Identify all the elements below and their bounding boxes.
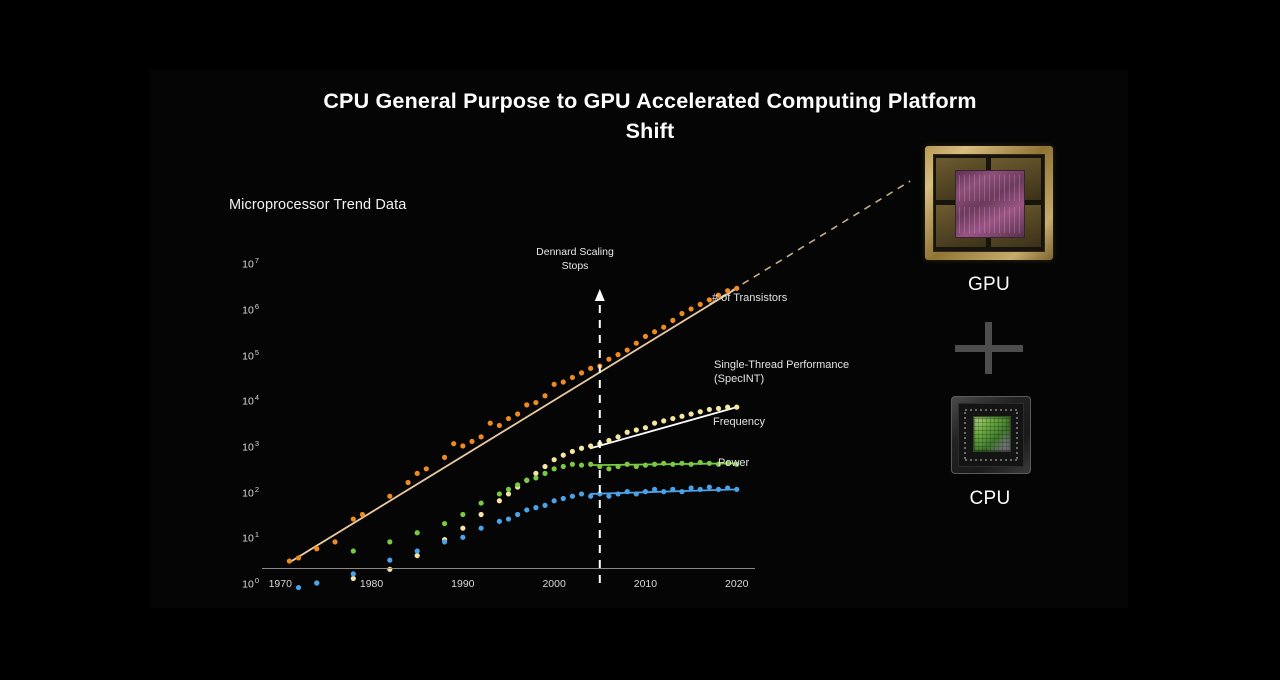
data-point: [314, 546, 319, 551]
data-point: [652, 462, 657, 467]
data-point: [460, 535, 465, 540]
data-point: [387, 558, 392, 563]
data-point: [579, 463, 584, 468]
data-point: [634, 427, 639, 432]
data-point: [533, 475, 538, 480]
data-point: [597, 464, 602, 469]
gpu-die-row: [959, 175, 1022, 201]
data-point: [552, 498, 557, 503]
data-point: [679, 489, 684, 494]
data-point: [670, 487, 675, 492]
data-point: [332, 539, 337, 544]
data-point: [652, 487, 657, 492]
data-point: [360, 512, 365, 517]
data-point: [552, 466, 557, 471]
cpu-chip-image: [951, 396, 1031, 474]
data-point: [716, 406, 721, 411]
series-label-single-thread: Single-Thread Performance (SpecINT): [714, 358, 849, 386]
y-axis-tick: 106: [242, 302, 259, 317]
gpu-chip-image: [925, 146, 1053, 260]
gpu-label: GPU: [925, 274, 1053, 296]
x-axis-tick: 2020: [725, 578, 748, 590]
y-axis-tick: 100: [242, 576, 259, 591]
gpu-die-row: [959, 207, 1022, 233]
data-point: [661, 418, 666, 423]
dennard-scaling-annotation: Dennard Scaling Stops: [520, 246, 630, 273]
data-point: [533, 505, 538, 510]
data-point: [515, 482, 520, 487]
data-point: [579, 491, 584, 496]
data-point: [625, 489, 630, 494]
data-point: [451, 441, 456, 446]
data-point: [460, 526, 465, 531]
data-point: [479, 500, 484, 505]
x-axis-tick: 1970: [269, 578, 292, 590]
data-point: [679, 414, 684, 419]
data-point: [479, 526, 484, 531]
cpu-pad-row: [965, 409, 1016, 411]
data-point: [698, 487, 703, 492]
cpu-label: CPU: [951, 488, 1029, 510]
data-point: [707, 484, 712, 489]
data-point: [707, 461, 712, 466]
y-axis-tick: 104: [242, 393, 259, 408]
data-point: [679, 311, 684, 316]
y-axis-tick: 105: [242, 347, 259, 362]
data-point: [515, 512, 520, 517]
data-point: [542, 393, 547, 398]
data-point: [579, 446, 584, 451]
data-point: [615, 352, 620, 357]
data-point: [506, 516, 511, 521]
data-point: [351, 571, 356, 576]
cpu-pad-column: [964, 411, 966, 458]
data-point: [588, 443, 593, 448]
data-point: [561, 496, 566, 501]
data-point: [460, 512, 465, 517]
data-point: [570, 449, 575, 454]
data-point: [688, 485, 693, 490]
data-point: [643, 463, 648, 468]
data-point: [415, 530, 420, 535]
data-point: [524, 478, 529, 483]
page-title: CPU General Purpose to GPU Accelerated C…: [300, 86, 1000, 146]
data-point: [698, 460, 703, 465]
data-point: [615, 491, 620, 496]
plot-area: [262, 245, 755, 583]
cpu-core-die: [973, 416, 1011, 451]
data-point: [625, 347, 630, 352]
data-point: [643, 425, 648, 430]
data-point: [479, 512, 484, 517]
data-point: [533, 471, 538, 476]
data-point: [643, 334, 648, 339]
data-point: [497, 423, 502, 428]
cpu-block: CPU: [951, 396, 1029, 510]
x-axis-tick: 1990: [451, 578, 474, 590]
data-point: [606, 494, 611, 499]
data-point: [351, 516, 356, 521]
chart-title: Microprocessor Trend Data: [229, 197, 406, 213]
cpu-pad-row: [965, 459, 1016, 461]
microprocessor-trend-chart: 100101102103104105106107 197019801990200…: [229, 230, 749, 600]
data-point: [634, 341, 639, 346]
data-point: [652, 421, 657, 426]
data-point: [415, 471, 420, 476]
data-point: [606, 466, 611, 471]
data-point: [606, 357, 611, 362]
x-axis-tick: 2010: [634, 578, 657, 590]
gpu-die-substrate: [933, 154, 1045, 252]
data-point: [688, 411, 693, 416]
data-point: [542, 471, 547, 476]
series-label-frequency: Frequency: [713, 415, 765, 429]
data-point: [661, 325, 666, 330]
data-point: [542, 464, 547, 469]
data-point: [698, 409, 703, 414]
data-point: [506, 416, 511, 421]
data-point: [469, 439, 474, 444]
x-axis-tick-labels: 197019801990200020102020: [262, 578, 755, 598]
data-point: [625, 430, 630, 435]
data-point: [716, 487, 721, 492]
x-axis-tick: 1980: [360, 578, 383, 590]
data-point: [670, 462, 675, 467]
data-point: [479, 434, 484, 439]
data-point: [688, 306, 693, 311]
data-point: [725, 405, 730, 410]
data-point: [634, 491, 639, 496]
data-point: [497, 498, 502, 503]
data-point: [405, 480, 410, 485]
data-point: [588, 494, 593, 499]
data-point: [497, 491, 502, 496]
data-point: [570, 462, 575, 467]
data-point: [552, 382, 557, 387]
data-point: [488, 421, 493, 426]
slide-root: CPU General Purpose to GPU Accelerated C…: [0, 0, 1280, 680]
data-point: [734, 487, 739, 492]
data-point: [424, 466, 429, 471]
plot-svg: [262, 245, 755, 583]
data-point: [506, 487, 511, 492]
series-label-single-thread-line2: (SpecINT): [714, 372, 849, 386]
y-axis-tick: 107: [242, 256, 259, 271]
data-point: [688, 462, 693, 467]
data-point: [661, 461, 666, 466]
data-point: [579, 370, 584, 375]
data-point: [415, 548, 420, 553]
data-point: [606, 438, 611, 443]
x-axis-line: [262, 568, 755, 569]
dennard-scaling-arrow: [595, 289, 605, 301]
data-point: [552, 457, 557, 462]
data-point: [670, 416, 675, 421]
data-point: [506, 491, 511, 496]
series-label-power: Power: [718, 456, 749, 470]
data-point: [351, 548, 356, 553]
data-point: [387, 494, 392, 499]
y-axis-tick-labels: 100101102103104105106107: [229, 245, 259, 583]
data-point: [524, 402, 529, 407]
y-axis-tick: 102: [242, 484, 259, 499]
data-point: [387, 539, 392, 544]
data-point: [561, 453, 566, 458]
data-point: [570, 375, 575, 380]
data-point: [287, 558, 292, 563]
series-label-transistors: # of Transistors: [712, 291, 787, 305]
series-label-single-thread-line1: Single-Thread Performance: [714, 358, 849, 372]
data-point: [734, 405, 739, 410]
cpu-pad-column: [1016, 411, 1018, 458]
data-point: [615, 464, 620, 469]
gpu-block: GPU: [925, 146, 1053, 296]
dennard-line-1: Dennard Scaling: [520, 246, 630, 260]
data-point: [588, 462, 593, 467]
data-point: [570, 494, 575, 499]
data-point: [497, 519, 502, 524]
data-point: [679, 461, 684, 466]
gpu-compute-die: [955, 170, 1025, 237]
data-point: [707, 407, 712, 412]
x-axis-tick: 2000: [542, 578, 565, 590]
data-point: [652, 329, 657, 334]
data-point: [542, 503, 547, 508]
data-point: [698, 302, 703, 307]
data-point: [524, 507, 529, 512]
data-point: [442, 521, 447, 526]
data-point: [533, 400, 538, 405]
data-point: [634, 464, 639, 469]
data-point: [415, 553, 420, 558]
data-point: [515, 411, 520, 416]
data-point: [643, 489, 648, 494]
data-point: [442, 539, 447, 544]
data-point: [561, 379, 566, 384]
data-point: [725, 485, 730, 490]
y-axis-tick: 101: [242, 530, 259, 545]
data-point: [588, 366, 593, 371]
plus-icon: [955, 322, 1023, 374]
data-point: [460, 443, 465, 448]
data-point: [670, 318, 675, 323]
data-point: [661, 489, 666, 494]
data-point: [625, 462, 630, 467]
data-point: [442, 455, 447, 460]
y-axis-tick: 103: [242, 439, 259, 454]
data-point: [296, 555, 301, 560]
cpu-package-substrate: [958, 403, 1024, 467]
data-point: [615, 434, 620, 439]
plus-icon-vertical: [985, 322, 992, 374]
dennard-line-2: Stops: [520, 260, 630, 274]
data-point: [561, 464, 566, 469]
